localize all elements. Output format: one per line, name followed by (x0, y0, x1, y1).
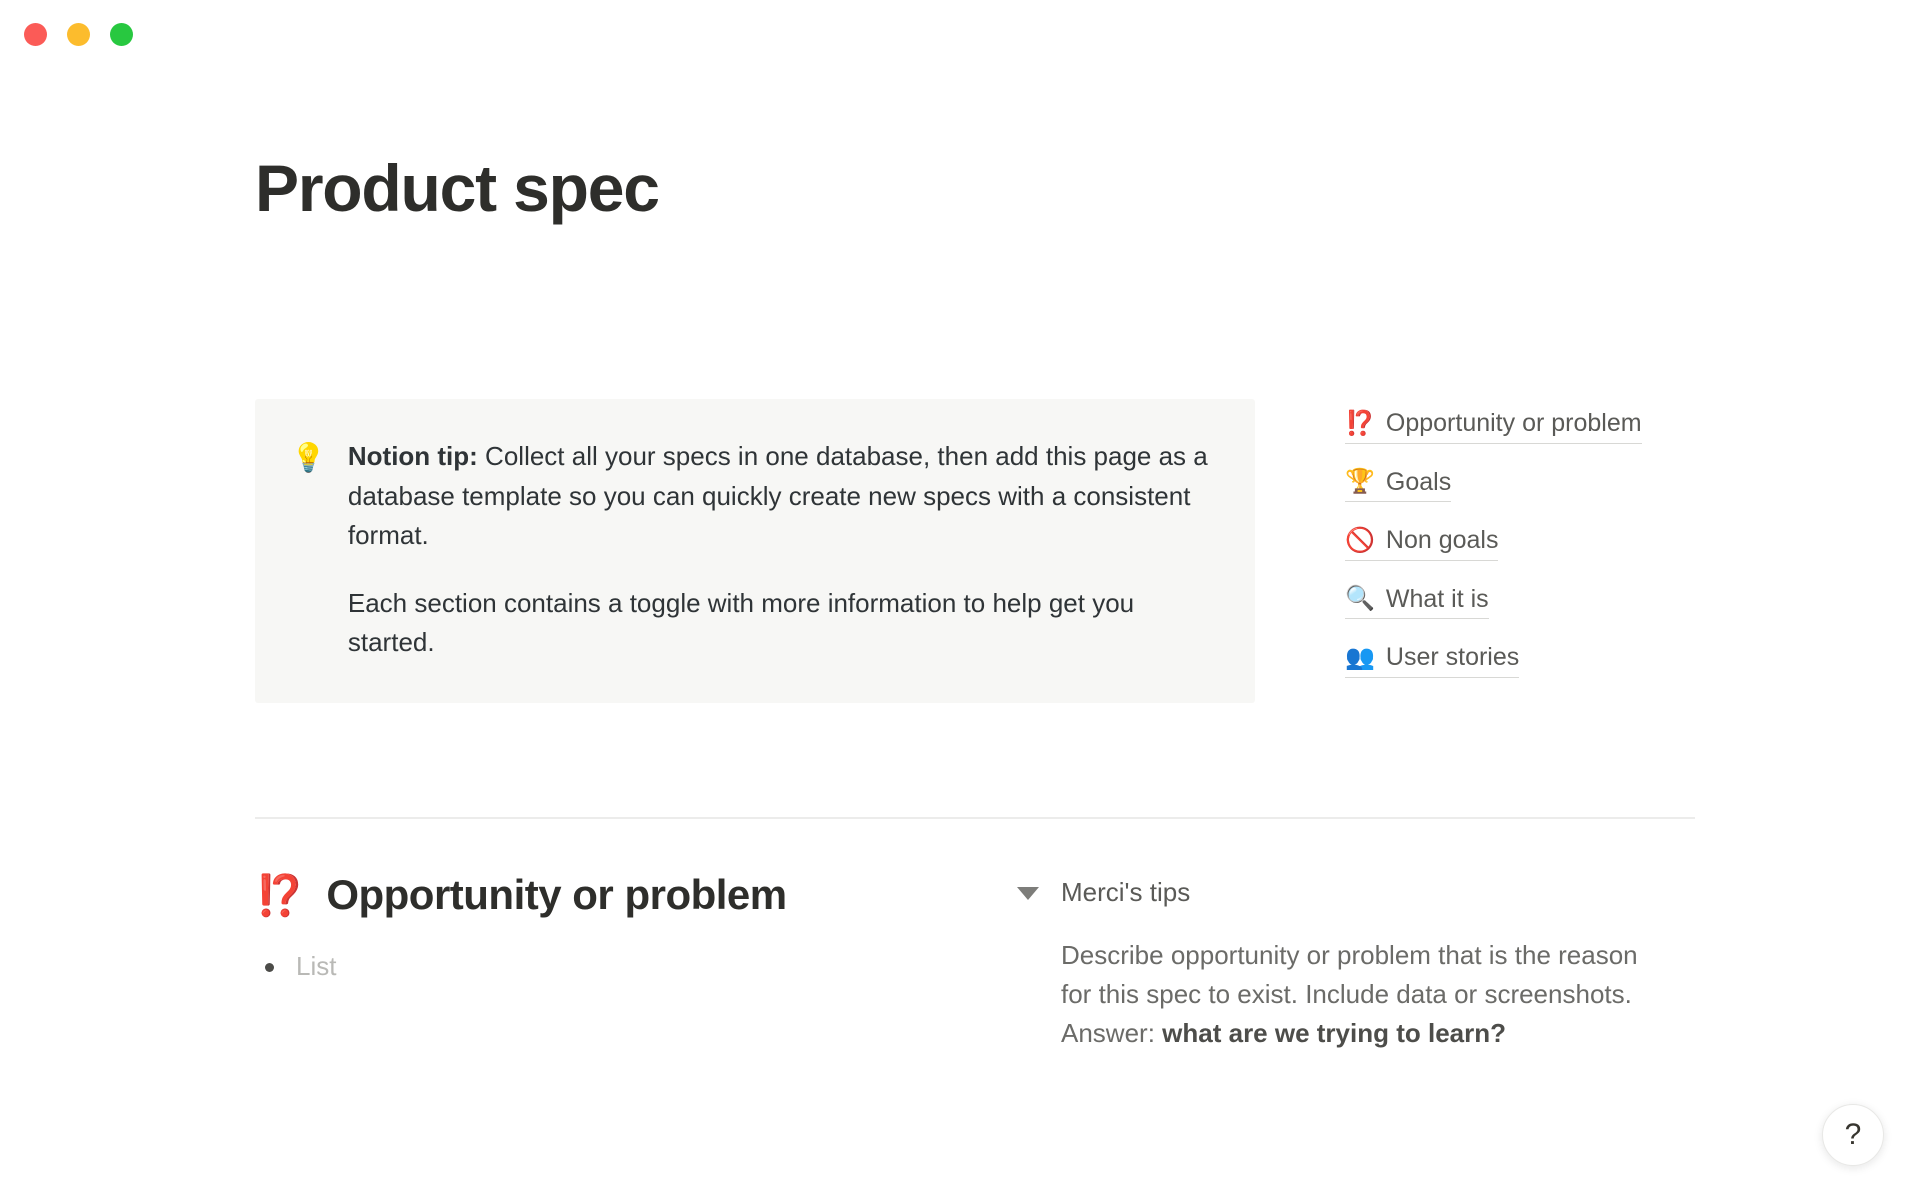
toc-link-user-stories[interactable]: 👥 User stories (1345, 641, 1519, 678)
callout-paragraph-1: Notion tip: Collect all your specs in on… (348, 437, 1215, 556)
toc-link-non-goals[interactable]: 🚫 Non goals (1345, 524, 1498, 561)
light-bulb-icon: 💡 (291, 438, 326, 477)
callout-text-body: Notion tip: Collect all your specs in on… (348, 437, 1215, 663)
opportunity-section: ⁉️ Opportunity or problem List Merci's t… (255, 870, 1695, 1053)
tips-body-bold: what are we trying to learn? (1162, 1018, 1506, 1048)
exclamation-question-icon: ⁉️ (1345, 408, 1375, 439)
exclamation-question-icon: ⁉️ (255, 872, 304, 920)
toc-link-label: Goals (1386, 466, 1451, 499)
maximize-window-button[interactable] (110, 23, 133, 46)
toc-link-label: Opportunity or problem (1386, 407, 1642, 440)
notion-tip-callout[interactable]: 💡 Notion tip: Collect all your specs in … (255, 399, 1255, 703)
tips-toggle-content: Describe opportunity or problem that is … (1017, 936, 1657, 1053)
chevron-down-icon[interactable] (1017, 887, 1039, 900)
section-heading-label: Opportunity or problem (326, 870, 786, 920)
section-tips-column: Merci's tips Describe opportunity or pro… (1017, 870, 1657, 1053)
table-of-contents: ⁉️ Opportunity or problem 🏆 Goals 🚫 Non … (1345, 399, 1685, 678)
toc-link-label: User stories (1386, 641, 1519, 674)
callout-bold-lead: Notion tip: (348, 441, 478, 471)
section-main-column: ⁉️ Opportunity or problem List (255, 870, 945, 985)
two-people-icon: 👥 (1345, 642, 1375, 673)
toc-link-goals[interactable]: 🏆 Goals (1345, 466, 1451, 503)
callout-paragraph-1-rest: Collect all your specs in one database, … (348, 441, 1208, 550)
intro-columns: 💡 Notion tip: Collect all your specs in … (255, 399, 1695, 703)
section-divider (255, 817, 1695, 819)
tips-toggle-header[interactable]: Merci's tips (1017, 876, 1657, 910)
page-title[interactable]: Product spec (255, 152, 659, 225)
tips-toggle-title: Merci's tips (1061, 876, 1190, 910)
help-button[interactable]: ? (1822, 1104, 1884, 1166)
toc-link-what-it-is[interactable]: 🔍 What it is (1345, 583, 1489, 620)
close-window-button[interactable] (24, 23, 47, 46)
bullet-placeholder-text: List (296, 948, 336, 984)
toc-link-label: Non goals (1386, 524, 1499, 557)
document-page: Product spec 💡 Notion tip: Collect all y… (0, 72, 1920, 1200)
callout-paragraph-2: Each section contains a toggle with more… (348, 584, 1215, 663)
traffic-light-controls (24, 23, 133, 46)
minimize-window-button[interactable] (67, 23, 90, 46)
section-heading[interactable]: ⁉️ Opportunity or problem (255, 870, 945, 920)
toc-link-label: What it is (1386, 583, 1489, 616)
list-item[interactable]: List (255, 948, 945, 984)
magnifying-glass-icon: 🔍 (1345, 583, 1375, 614)
prohibited-icon: 🚫 (1345, 525, 1375, 556)
window-titlebar (0, 0, 1920, 72)
bullet-dot-icon (265, 963, 274, 972)
toc-link-opportunity-or-problem[interactable]: ⁉️ Opportunity or problem (1345, 407, 1642, 444)
trophy-icon: 🏆 (1345, 466, 1375, 497)
